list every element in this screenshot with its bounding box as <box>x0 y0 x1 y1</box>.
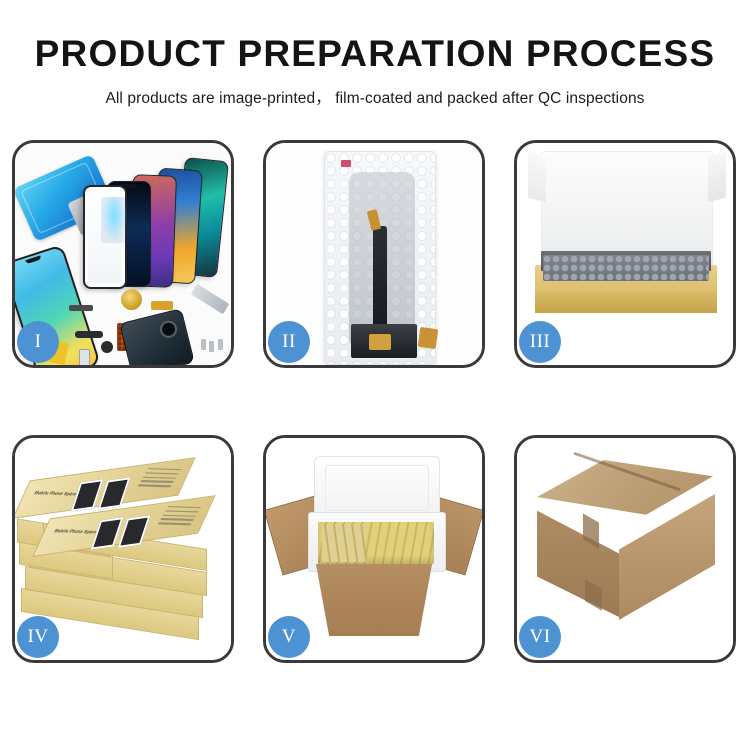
gold-connector-2 <box>418 327 439 349</box>
phone-fan <box>93 159 231 289</box>
carton-body <box>308 564 440 636</box>
page-subtitle: All products are image-printed， film-coa… <box>0 72 750 108</box>
bubble-wrap-bag <box>324 151 436 365</box>
jellyfish-wallpaper <box>101 197 127 243</box>
steps-grid: I II III <box>12 140 738 680</box>
shipping-carton <box>531 460 721 636</box>
step-panel-3[interactable]: III <box>514 140 736 368</box>
header: PRODUCT PREPARATION PROCESS All products… <box>0 0 750 108</box>
sim-tray-part <box>79 349 90 365</box>
step-badge-5: V <box>268 616 310 658</box>
step-panel-1[interactable]: I <box>12 140 234 368</box>
notch-icon <box>121 184 137 188</box>
speaker-part <box>75 331 103 338</box>
flex-cable-part-1 <box>151 301 173 310</box>
carton-left-face <box>537 496 621 618</box>
step-badge-1: I <box>17 321 59 363</box>
screw-icon <box>201 339 206 350</box>
battery-connector-part <box>69 305 93 311</box>
step-panel-4[interactable]: Mobile Phone Spare Parts Mobile Phone Sp… <box>12 435 234 663</box>
box-spec-lines <box>156 506 201 527</box>
box-spec-lines <box>136 468 181 489</box>
screw-icon <box>209 341 214 352</box>
foam-pellet-padding <box>543 255 709 281</box>
screw-icon <box>218 339 223 350</box>
step-badge-3: III <box>519 321 561 363</box>
styrofoam-lid <box>314 456 440 520</box>
box-product-swatch <box>98 477 131 510</box>
step-panel-6[interactable]: VI <box>514 435 736 663</box>
step-badge-2: II <box>268 321 310 363</box>
screws-group <box>201 339 227 353</box>
kraft-box-front-panel <box>535 291 717 313</box>
wireless-coil-part <box>121 289 142 310</box>
notch-icon <box>25 255 41 264</box>
camera-lens-icon <box>158 319 179 340</box>
step-badge-6: VI <box>519 616 561 658</box>
step-panel-2[interactable]: II <box>263 140 485 368</box>
packed-boxes-row-2 <box>322 524 366 562</box>
page-title: PRODUCT PREPARATION PROCESS <box>0 0 750 72</box>
qc-sticker <box>341 160 351 167</box>
product-preparation-infographic: PRODUCT PREPARATION PROCESS All products… <box>0 0 750 750</box>
step-badge-4: IV <box>17 616 59 658</box>
gold-connector-1 <box>369 334 391 350</box>
camera-module-part <box>101 341 113 353</box>
step-panel-5[interactable]: V <box>263 435 485 663</box>
carton-right-face <box>619 494 715 620</box>
